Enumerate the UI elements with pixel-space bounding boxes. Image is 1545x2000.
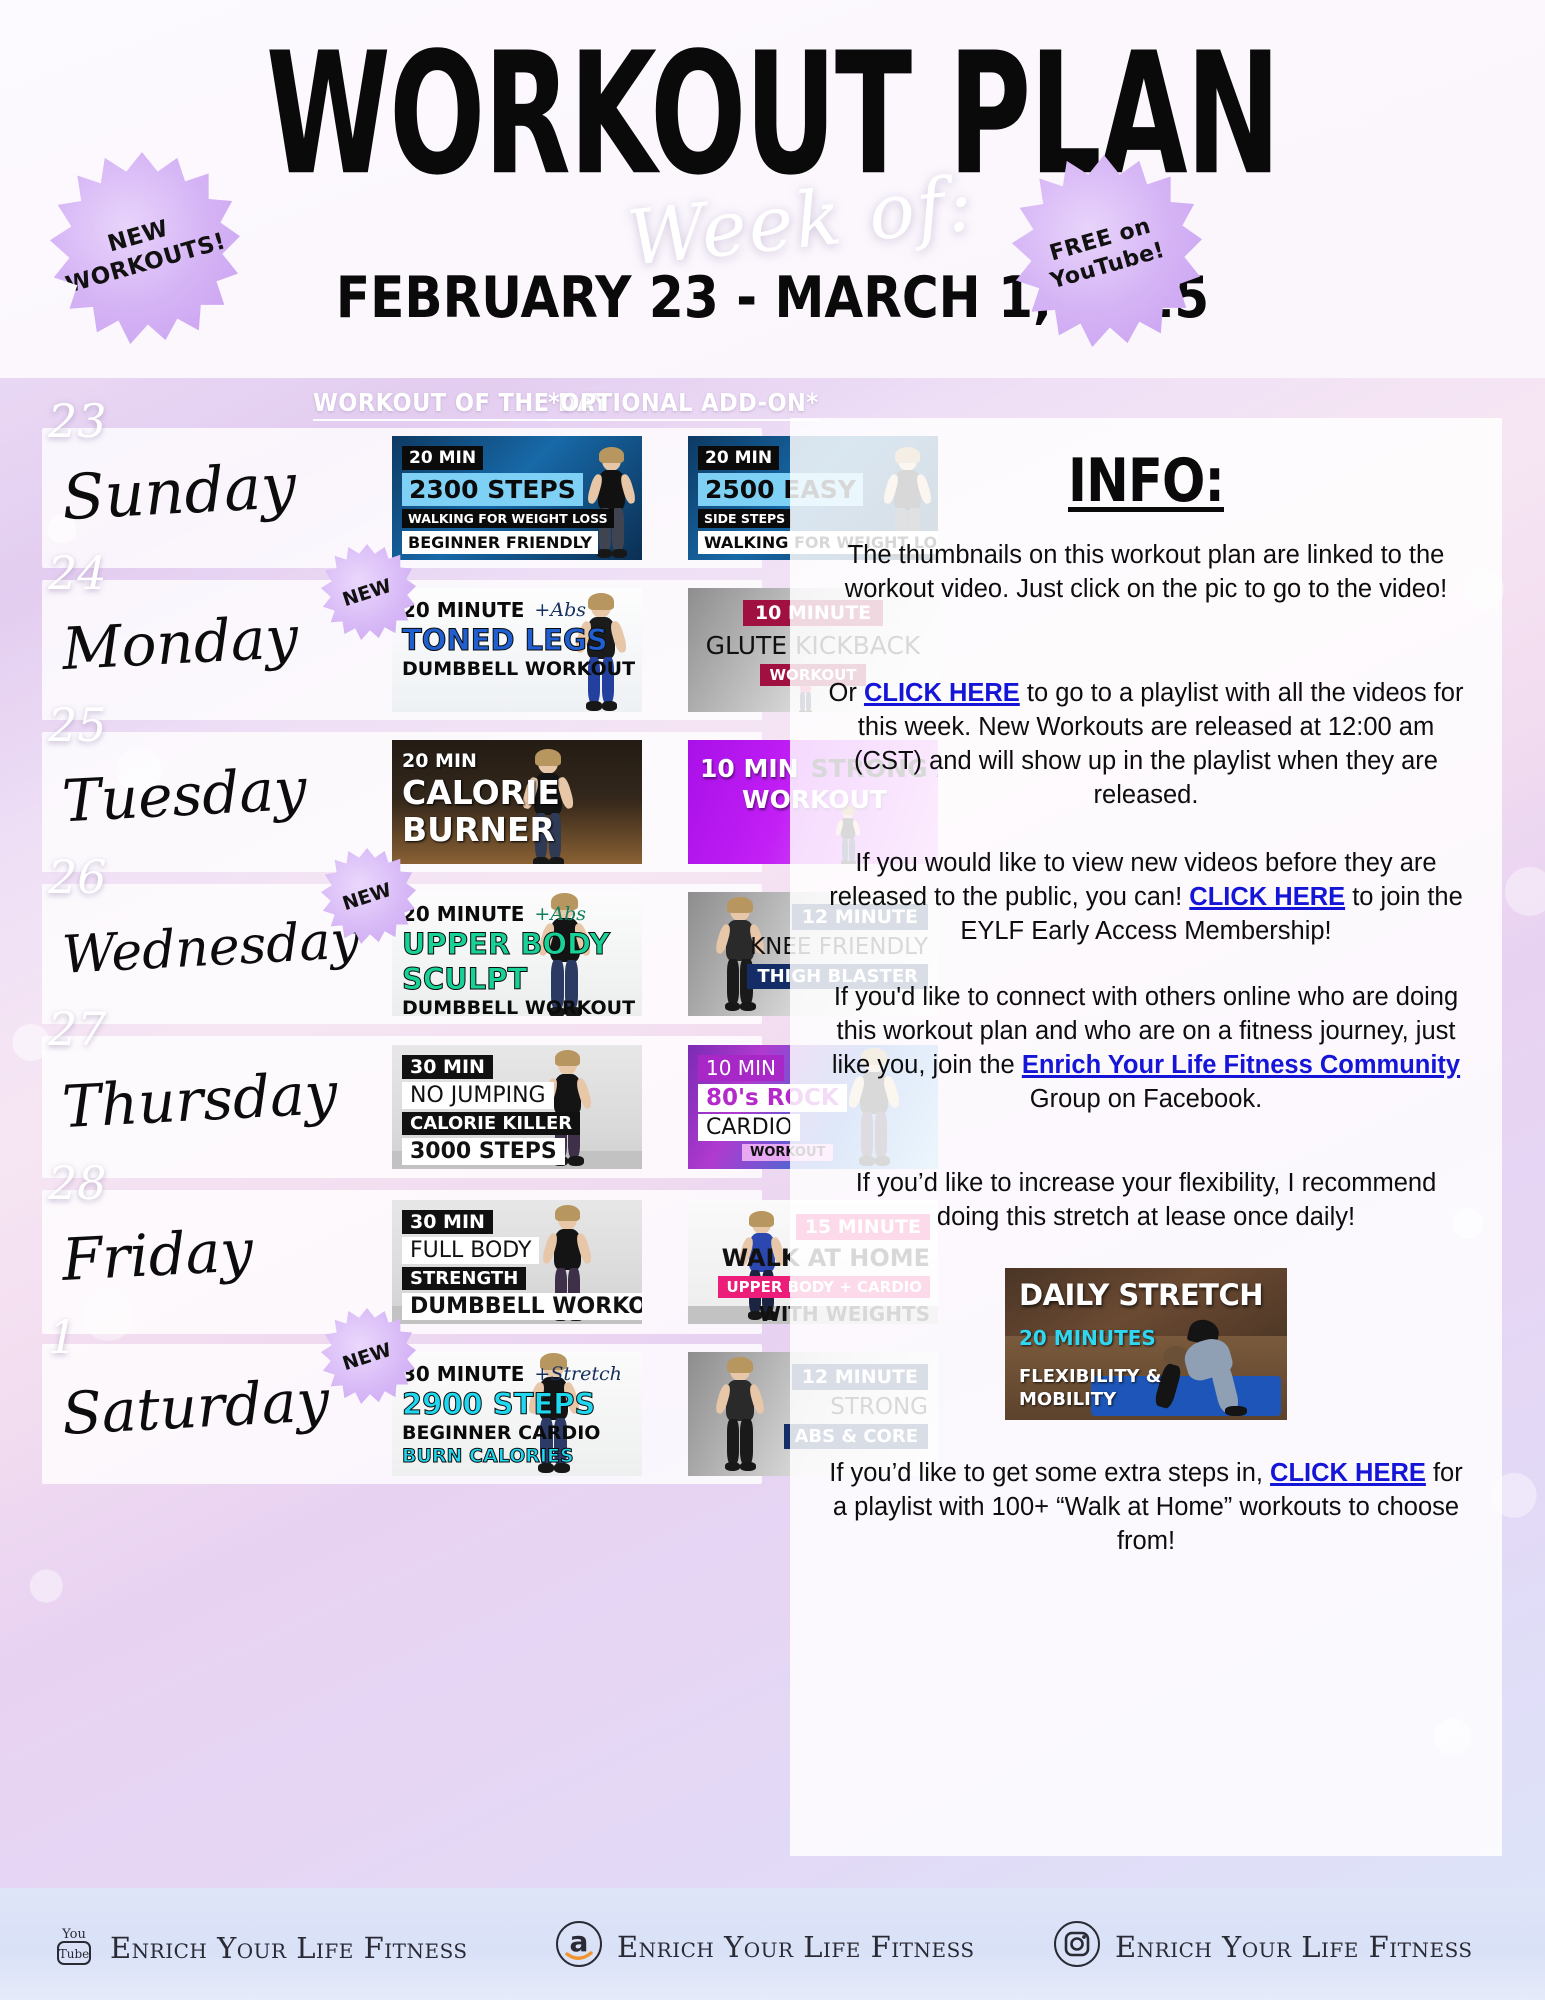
early-access-click-here-link[interactable]: CLICK HERE xyxy=(1189,883,1345,911)
day-date-number: 27 xyxy=(48,1002,107,1056)
info-p4-post: Group on Facebook. xyxy=(1030,1085,1262,1113)
day-date-number: 28 xyxy=(48,1156,107,1210)
workout-of-the-day-line2: SCULPT xyxy=(402,962,527,996)
workout-of-the-day-line2: DUMBBELL WORKOUT xyxy=(402,658,635,680)
optional-addon-duration: 10 MIN xyxy=(698,1055,784,1081)
svg-text:Tube: Tube xyxy=(59,1947,90,1961)
workout-of-the-day-line3: BURN CALORIES xyxy=(402,1445,574,1467)
walk-at-home-click-here-link[interactable]: CLICK HERE xyxy=(1270,1459,1426,1487)
workout-of-the-day-line1: FULL BODY xyxy=(402,1237,539,1264)
day-name: Monday xyxy=(60,603,299,683)
workout-of-the-day-duration: 20 MINUTE xyxy=(402,902,524,926)
workout-of-the-day-thumbnail[interactable]: 20 MIN2300 STEPSWALKING FOR WEIGHT LOSSB… xyxy=(392,436,642,560)
daily-stretch-line2: MOBILITY xyxy=(1019,1389,1116,1410)
day-date-number: 23 xyxy=(48,394,107,448)
footer-label-instagram: Enrich Your Life Fitness xyxy=(1115,1930,1473,1964)
instagram-icon xyxy=(1053,1920,1101,1973)
info-paragraph-community: If you'd like to connect with others onl… xyxy=(824,980,1468,1116)
workout-of-the-day-line2: WALKING FOR WEIGHT LOSS xyxy=(402,509,614,528)
workout-of-the-day-thumbnail[interactable]: 20 MINUTE+AbsUPPER BODYSCULPTDUMBBELL WO… xyxy=(392,892,642,1016)
workout-of-the-day-line1: CALORIE xyxy=(402,773,560,812)
workout-of-the-day-line3: 3000 STEPS xyxy=(402,1138,565,1165)
workout-of-the-day-accent: +Abs xyxy=(534,599,586,621)
day-date-number: 24 xyxy=(48,546,107,600)
facebook-community-link[interactable]: Enrich Your Life Fitness Community xyxy=(1022,1051,1460,1079)
workout-of-the-day-line2: CALORIE KILLER xyxy=(402,1112,580,1135)
workout-of-the-day-duration: 30 MIN xyxy=(402,1210,493,1234)
info-paragraph-thumbnails: The thumbnails on this workout plan are … xyxy=(824,538,1468,606)
workout-of-the-day-line1: TONED LEGS xyxy=(402,623,608,657)
day-name: Saturday xyxy=(60,1366,330,1448)
workout-of-the-day-duration: 30 MIN xyxy=(402,1055,493,1079)
day-date-number: 1 xyxy=(48,1310,77,1364)
info-paragraph-extra-steps: If you’d like to get some extra steps in… xyxy=(824,1456,1468,1558)
amazon-icon: a xyxy=(555,1920,603,1973)
day-name: Tuesday xyxy=(60,755,308,836)
daily-stretch-line1: FLEXIBILITY & xyxy=(1019,1366,1162,1387)
workout-of-the-day-duration: 20 MIN xyxy=(402,446,483,470)
workout-of-the-day-accent: +Stretch xyxy=(534,1363,621,1385)
day-name: Friday xyxy=(60,1216,254,1294)
workout-of-the-day-line3: DUMBBELL WORKOUT xyxy=(402,997,635,1016)
footer-item-youtube[interactable]: You Tube Enrich Your Life Fitness xyxy=(52,1922,468,1973)
workout-of-the-day-thumbnail[interactable]: 20 MINUTE+AbsTONED LEGSDUMBBELL WORKOUT xyxy=(392,588,642,712)
workout-of-the-day-accent: +Abs xyxy=(534,903,586,925)
daily-stretch-thumbnail[interactable]: DAILY STRETCH 20 MINUTES FLEXIBILITY & M… xyxy=(1005,1268,1287,1420)
daily-stretch-title: DAILY STRETCH xyxy=(1019,1278,1263,1312)
workout-of-the-day-duration: 30 MINUTE xyxy=(402,1362,524,1386)
page-footer: You Tube Enrich Your Life Fitness a Enri… xyxy=(0,1888,1545,2000)
optional-addon-duration: 20 MIN xyxy=(698,446,779,470)
schedule-area: WORKOUT OF THE DAY *OPTIONAL ADD-ON* 23S… xyxy=(0,378,1545,1888)
info-p6-pre: If you’d like to get some extra steps in… xyxy=(829,1459,1270,1487)
info-paragraph-flexibility: If you’d like to increase your flexibili… xyxy=(824,1166,1468,1234)
day-date-number: 26 xyxy=(48,850,107,904)
workout-of-the-day-line3: DUMBBELL WORKOUT xyxy=(402,1293,642,1320)
footer-label-amazon: Enrich Your Life Fitness xyxy=(617,1930,975,1964)
workout-of-the-day-line1: 2900 STEPS xyxy=(402,1387,595,1421)
day-date-number: 25 xyxy=(48,698,107,752)
svg-text:a: a xyxy=(570,1925,589,1958)
workout-of-the-day-duration: 20 MIN xyxy=(402,750,477,772)
optional-addon-duration: 10 MIN xyxy=(700,754,799,783)
column-header-optional-addon: *OPTIONAL ADD-ON* xyxy=(548,388,819,421)
workout-of-the-day-line1: NO JUMPING xyxy=(402,1082,554,1109)
workout-of-the-day-thumbnail[interactable]: 30 MINUTE+Stretch2900 STEPSBEGINNER CARD… xyxy=(392,1352,642,1476)
optional-addon-line2: SIDE STEPS xyxy=(698,509,791,528)
date-range: FEBRUARY 23 - MARCH 1, 2025 xyxy=(93,265,1453,331)
workout-of-the-day-line2: BEGINNER CARDIO xyxy=(402,1422,600,1444)
workout-of-the-day-thumbnail[interactable]: 30 MINNO JUMPINGCALORIE KILLER3000 STEPS xyxy=(392,1045,642,1169)
page-title: WORKOUT PLAN xyxy=(139,38,1406,193)
playlist-click-here-link[interactable]: CLICK HERE xyxy=(864,679,1020,707)
workout-of-the-day-duration: 20 MINUTE xyxy=(402,598,524,622)
footer-item-instagram[interactable]: Enrich Your Life Fitness xyxy=(1053,1920,1473,1973)
page-header: WORKOUT PLAN Week of: FEBRUARY 23 - MARC… xyxy=(0,0,1545,378)
info-panel-title: INFO: xyxy=(843,446,1448,516)
youtube-icon: You Tube xyxy=(52,1922,96,1973)
daily-stretch-duration: 20 MINUTES xyxy=(1019,1326,1156,1350)
svg-text:You: You xyxy=(61,1927,86,1942)
optional-addon-line2: CARDIO xyxy=(698,1114,800,1141)
info-paragraph-early-access: If you would like to view new videos bef… xyxy=(824,846,1468,948)
workout-of-the-day-thumbnail[interactable]: 20 MINCALORIEBURNER xyxy=(392,740,642,864)
workout-of-the-day-line2: BURNER xyxy=(402,810,555,849)
workout-of-the-day-line2: STRENGTH xyxy=(402,1267,526,1290)
footer-item-amazon[interactable]: a Enrich Your Life Fitness xyxy=(555,1920,975,1973)
day-name: Sunday xyxy=(60,449,298,534)
info-panel: INFO: The thumbnails on this workout pla… xyxy=(790,418,1502,1856)
workout-of-the-day-line3: BEGINNER FRIENDLY xyxy=(402,531,598,554)
info-paragraph-playlist: Or CLICK HERE to go to a playlist with a… xyxy=(824,676,1468,812)
info-p2-pre: Or xyxy=(829,679,864,707)
workout-of-the-day-thumbnail[interactable]: 30 MINFULL BODYSTRENGTHDUMBBELL WORKOUT xyxy=(392,1200,642,1324)
workout-of-the-day-line1: UPPER BODY xyxy=(402,927,610,961)
footer-label-youtube: Enrich Your Life Fitness xyxy=(110,1931,468,1965)
workout-of-the-day-line1: 2300 STEPS xyxy=(402,473,583,506)
